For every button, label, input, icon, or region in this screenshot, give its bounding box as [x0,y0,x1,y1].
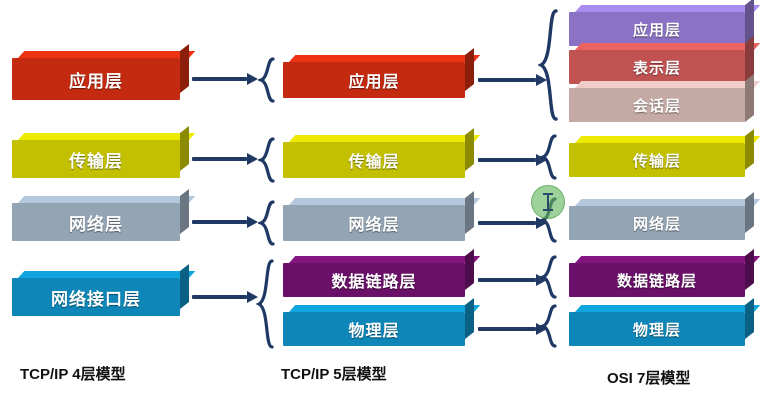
arrow-right-icon [192,291,258,303]
arrow-right-icon [192,153,258,165]
layer-label: 数据链路层 [617,270,697,291]
layer-box-tcpip4-application[interactable]: 应用层 [12,58,180,100]
layer-box-osi-presentation[interactable]: 表示层 [569,50,745,84]
layer-label: 物理层 [633,319,681,340]
diagram-canvas: 应用层 传输层 网络层 网络接口层 应用层 传输层 网络层 [0,0,769,408]
layer-label: 传输层 [633,150,681,171]
layer-box-tcpip5-transport[interactable]: 传输层 [283,142,465,178]
layer-box-osi-transport[interactable]: 传输层 [569,143,745,177]
layer-label: 网络接口层 [51,285,141,310]
caption-tcpip5: TCP/IP 5层模型 [281,363,387,384]
layer-box-tcpip4-network-interface[interactable]: 网络接口层 [12,278,180,316]
curly-brace-icon [256,258,276,350]
layer-box-osi-session[interactable]: 会话层 [569,88,745,122]
caption-osi7: OSI 7层模型 [607,367,690,388]
arrow-right-icon [478,274,548,286]
curly-brace-icon [258,137,276,183]
layer-label: 传输层 [69,147,123,172]
layer-box-tcpip5-application[interactable]: 应用层 [283,62,465,98]
arrow-right-icon [478,323,548,335]
layer-label: 应用层 [348,68,399,92]
caption-tcpip4: TCP/IP 4层模型 [20,363,126,384]
curly-brace-icon [538,8,560,122]
layer-box-tcpip5-physical[interactable]: 物理层 [283,312,465,346]
arrow-right-icon [192,73,258,85]
layer-box-osi-network[interactable]: 网络层 [569,206,745,240]
curly-brace-icon [540,255,558,299]
layer-label: 会话层 [633,95,681,116]
curly-brace-icon [540,197,558,243]
arrow-right-icon [478,154,548,166]
layer-box-tcpip5-datalink[interactable]: 数据链路层 [283,263,465,297]
curly-brace-icon [258,200,276,246]
arrow-right-icon [192,216,258,228]
layer-box-tcpip5-network[interactable]: 网络层 [283,205,465,241]
layer-box-tcpip4-transport[interactable]: 传输层 [12,140,180,178]
layer-label: 传输层 [348,148,399,172]
layer-label: 网络层 [633,213,681,234]
curly-brace-icon [258,57,276,103]
curly-brace-icon [540,304,558,348]
layer-label: 应用层 [633,19,681,40]
layer-label: 表示层 [633,57,681,78]
layer-label: 网络层 [69,210,123,235]
layer-label: 网络层 [348,211,399,235]
layer-box-osi-datalink[interactable]: 数据链路层 [569,263,745,297]
layer-label: 应用层 [69,67,123,92]
layer-box-tcpip4-network[interactable]: 网络层 [12,203,180,241]
layer-label: 物理层 [348,317,399,341]
arrow-right-icon [478,217,548,229]
layer-box-osi-application[interactable]: 应用层 [569,12,745,46]
layer-label: 数据链路层 [331,268,416,292]
curly-brace-icon [540,134,558,180]
layer-box-osi-physical[interactable]: 物理层 [569,312,745,346]
